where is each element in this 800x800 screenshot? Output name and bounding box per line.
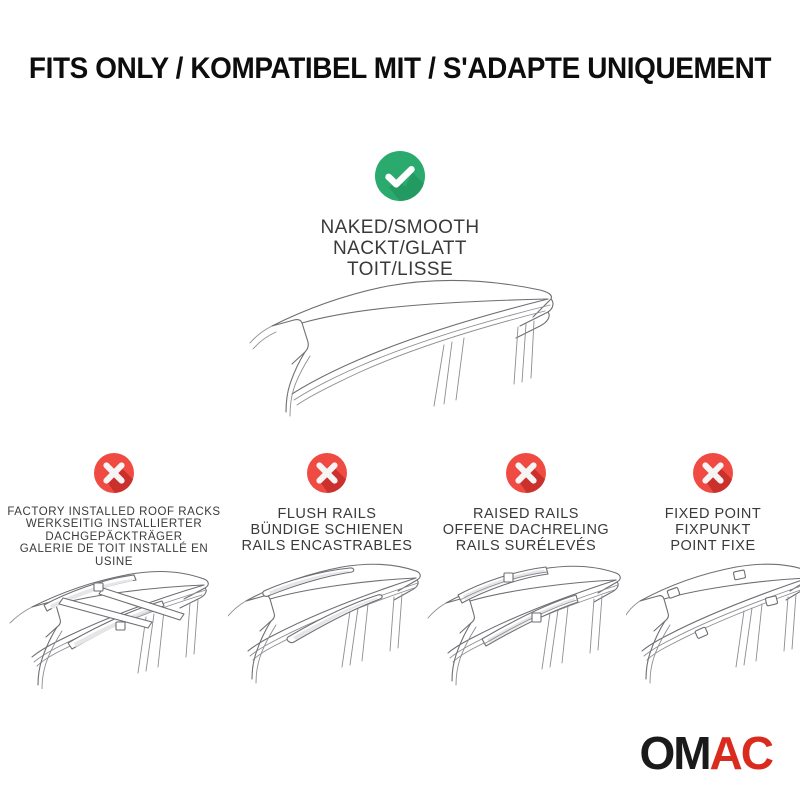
incompatible-item-fixed-point: FIXED POINT FIXPUNKT POINT FIXE: [626, 450, 800, 700]
label-line-1: FLUSH RAILS: [242, 506, 413, 522]
cross-circle-icon: [306, 452, 348, 499]
label-line-2: OFFENE DACHRELING: [443, 522, 609, 538]
label-line-1: RAISED RAILS: [443, 506, 609, 522]
logo-text-red: AC: [710, 727, 772, 779]
compatible-label-line-1: NAKED/SMOOTH: [0, 217, 800, 238]
compatible-label: NAKED/SMOOTH NACKT/GLATT TOIT/LISSE: [0, 217, 800, 280]
incompatible-item-factory-rack: FACTORY INSTALLED ROOF RACKS WERKSEITIG …: [0, 450, 228, 700]
cross-circle-icon: [505, 452, 547, 499]
label-line-1: FACTORY INSTALLED ROOF RACKS: [0, 506, 228, 518]
incompatible-label-flush-rails: FLUSH RAILS BÜNDIGE SCHIENEN RAILS ENCAS…: [242, 506, 413, 554]
incompatible-item-flush-rails: FLUSH RAILS BÜNDIGE SCHIENEN RAILS ENCAS…: [228, 450, 426, 700]
label-line-3: DACHGEPÄCKTRÄGER: [0, 531, 228, 543]
car-roof-raised-rails-illustration: [424, 547, 628, 694]
incompatible-section: FACTORY INSTALLED ROOF RACKS WERKSEITIG …: [0, 450, 800, 700]
cross-circle-icon: [93, 452, 135, 499]
compatible-label-line-2: NACKT/GLATT: [0, 238, 800, 259]
page-title: FITS ONLY / KOMPATIBEL MIT / S'ADAPTE UN…: [28, 52, 772, 86]
car-roof-flush-rails-illustration: [228, 549, 428, 694]
car-roof-factory-rack-illustration: [6, 549, 222, 694]
label-line-2: WERKSEITIG INSTALLIERTER: [0, 518, 228, 530]
car-roof-fixed-point-illustration: [626, 547, 800, 694]
label-line-1: FIXED POINT: [665, 506, 762, 522]
compatible-section: NAKED/SMOOTH NACKT/GLATT TOIT/LISSE: [0, 150, 800, 280]
label-line-2: FIXPUNKT: [665, 522, 762, 538]
logo-text-dark: OM: [639, 727, 709, 779]
label-line-2: BÜNDIGE SCHIENEN: [242, 522, 413, 538]
car-roof-naked-smooth-illustration: [248, 272, 578, 422]
omac-logo: OMAC: [639, 730, 772, 776]
check-circle-icon: [0, 150, 800, 207]
incompatible-item-raised-rails: RAISED RAILS OFFENE DACHRELING RAILS SUR…: [426, 450, 626, 700]
cross-circle-icon: [692, 452, 734, 499]
